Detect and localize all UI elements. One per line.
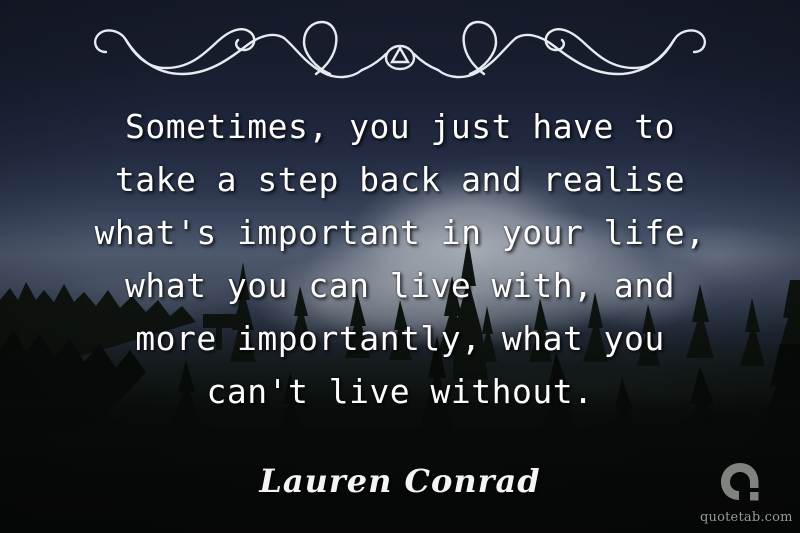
quotetab-logo[interactable]: quotetab.com xyxy=(700,461,786,525)
quotetab-site-label: quotetab.com xyxy=(700,510,786,525)
quote-card: Sometimes, you just have to take a step … xyxy=(0,0,800,533)
decorative-flourish-icon xyxy=(80,10,720,82)
quote-line: more importantly, what you xyxy=(0,312,800,365)
quote-line: what's important in your life, xyxy=(0,206,800,259)
card-content: Sometimes, you just have to take a step … xyxy=(0,0,800,533)
quote-line: what you can live with, and xyxy=(0,259,800,312)
quote-line: can't live without. xyxy=(0,365,800,418)
quote-text: Sometimes, you just have to take a step … xyxy=(0,100,800,418)
quotetab-q-mark-icon xyxy=(719,461,767,509)
quote-line: take a step back and realise xyxy=(0,153,800,206)
quote-line: Sometimes, you just have to xyxy=(0,100,800,153)
quote-author: Lauren Conrad xyxy=(0,462,800,500)
